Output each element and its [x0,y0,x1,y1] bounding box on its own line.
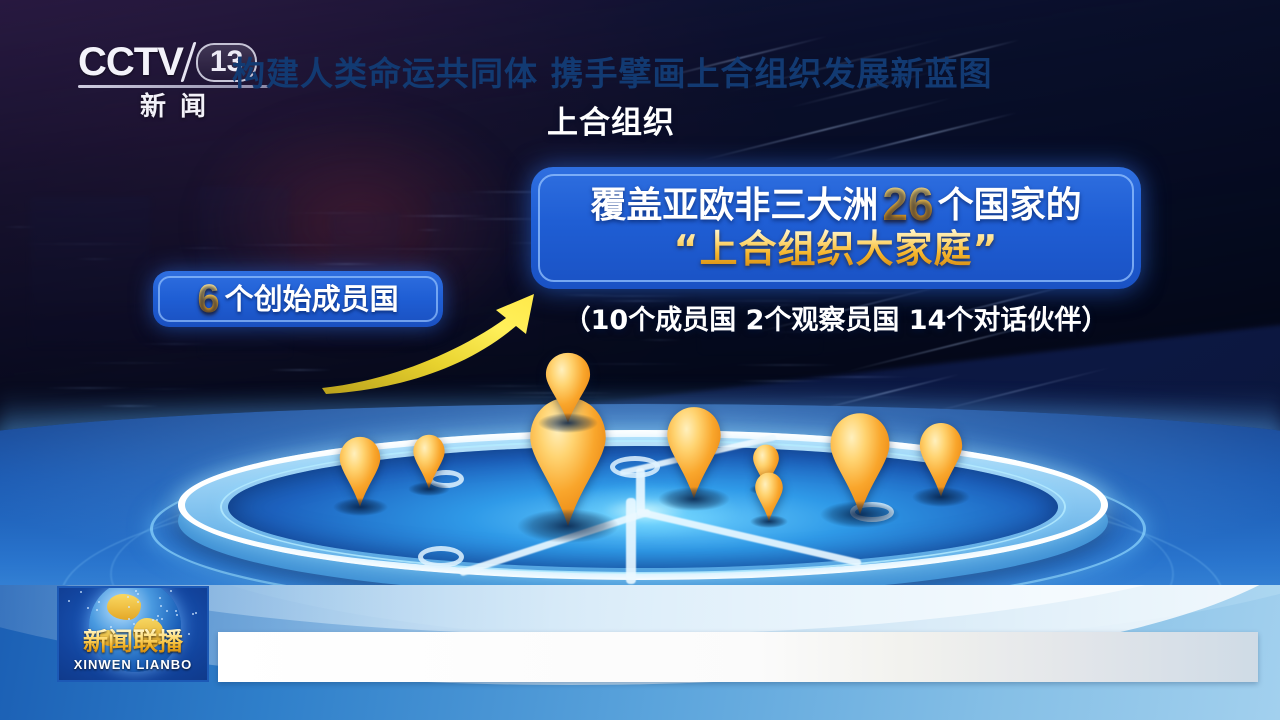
map-road-1 [626,498,636,584]
panel-line1-suffix: 个国家的 [938,185,1082,226]
pin-shadow [820,501,900,528]
info-panel: 覆盖亚欧非三大洲26个国家的 “上合组织大家庭” [531,167,1141,289]
pin-shadow [912,487,970,506]
location-pin-icon [665,406,723,500]
xinwen-lianbo-logo: 新闻联播 XINWEN LIANBO [57,586,209,682]
pin-shadow [538,413,598,433]
headline-text: 构建人类命运共同体 携手擘画上合组织发展新蓝图 [232,52,993,94]
broadcast-screenshot: CCTV 13 新闻 上合组织 覆盖亚欧非三大洲26个国家的 “上合组织大家庭”… [0,0,1280,720]
pin-shadow [333,498,388,516]
founding-members-count: 6 [197,279,224,319]
pin-shadow [658,487,731,511]
panel-country-count: 26 [878,178,937,230]
map-node-3 [610,456,660,478]
world-map-disc-icon [150,420,1140,610]
globe-landmass-1 [107,594,141,620]
pin-shadow [750,515,788,528]
cctv-wordmark: CCTV [78,42,183,82]
panel-line-2: “上合组织大家庭” [531,229,1141,271]
cctv-channel-name-cn: 新闻 [78,94,268,120]
section-label-sco: 上合组织 [547,108,675,139]
panel-sub-note: （10个成员国 2个观察员国 14个对话伙伴） [531,307,1141,334]
map-node-1 [418,546,464,568]
panel-line-1: 覆盖亚欧非三大洲26个国家的 [531,181,1141,227]
program-name-en: XINWEN LIANBO [59,658,207,671]
panel-line1-prefix: 覆盖亚欧非三大洲 [590,185,878,226]
headline-background-bar [218,632,1258,682]
program-name-cn: 新闻联播 [59,629,207,654]
curved-arrow-up-right-icon [320,276,570,396]
